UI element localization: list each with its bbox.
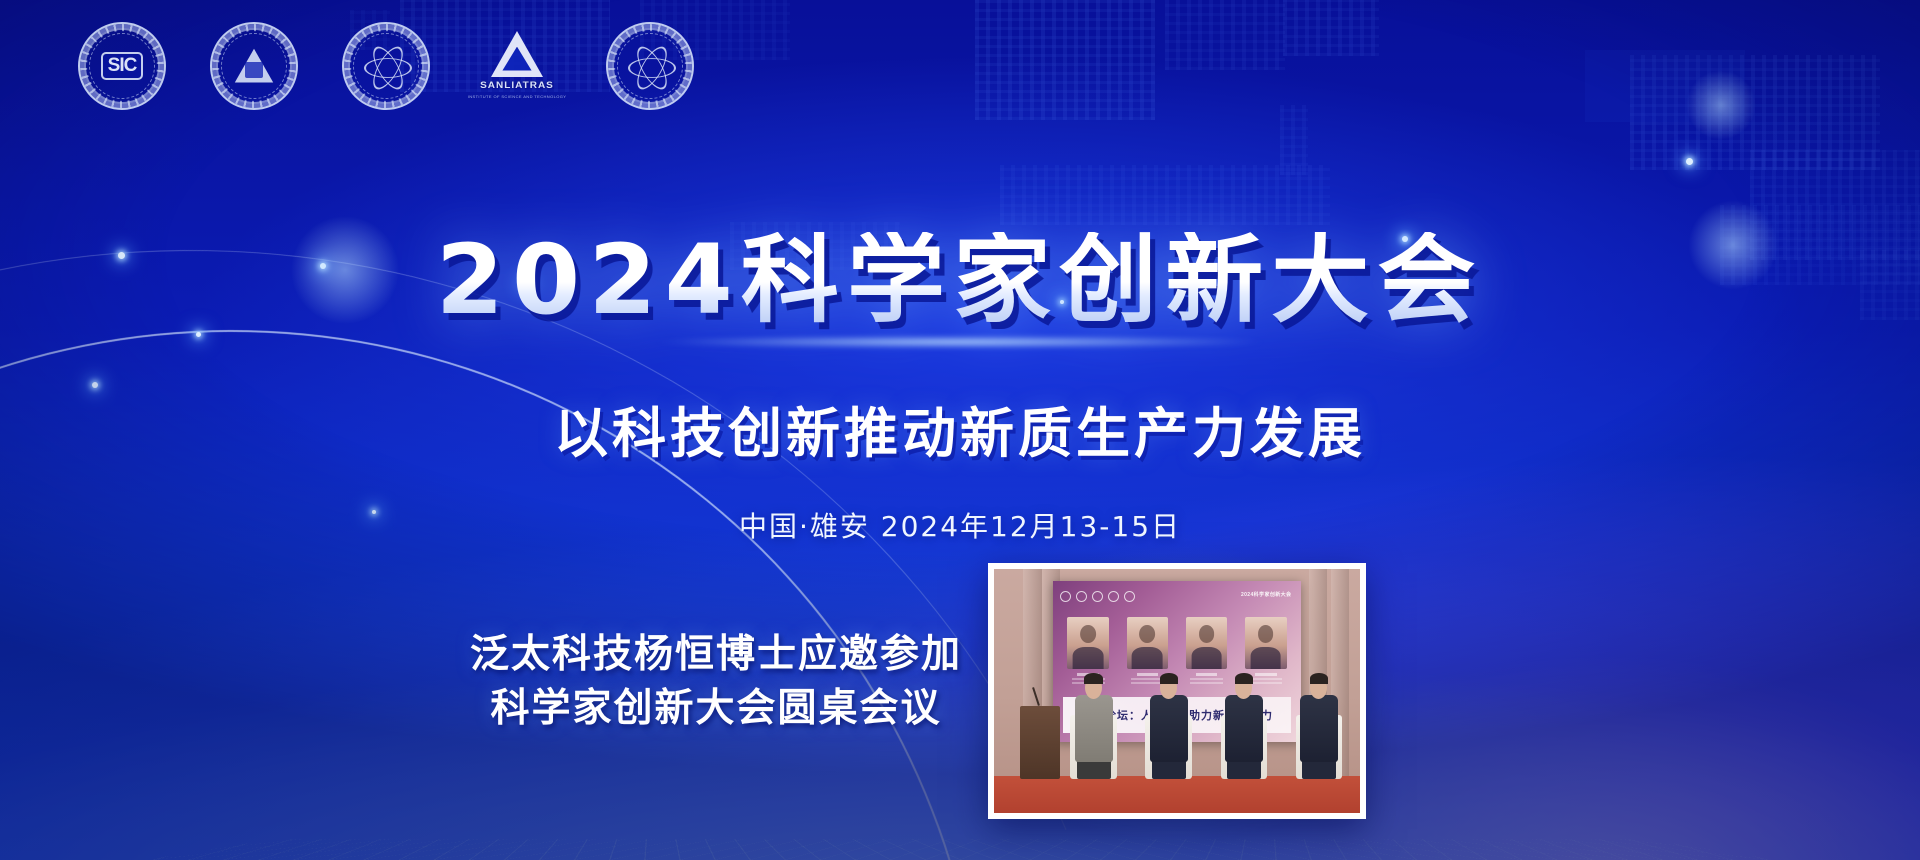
- page-subtitle: 以科技创新推动新质生产力发展: [554, 404, 1366, 463]
- poster-canvas: SIC SANLIATRAS INSTITUTE OF SCIENCE AND …: [0, 0, 1920, 860]
- photo-panelists: [1067, 676, 1345, 778]
- screen-logo-icon: [1060, 591, 1071, 602]
- panelist: [1067, 676, 1120, 778]
- photo-podium: [1020, 706, 1060, 779]
- panelist: [1293, 676, 1346, 778]
- sic-seal-logo: SIC: [78, 22, 164, 108]
- event-photo: 2024科学家创新大会: [994, 569, 1360, 813]
- photo-stage-floor: [994, 776, 1360, 813]
- panelist: [1142, 676, 1195, 778]
- sanliatras-subtext: INSTITUTE OF SCIENCE AND TECHNOLOGY: [468, 94, 567, 99]
- sanliatras-triangle-logo: SANLIATRAS INSTITUTE OF SCIENCE AND TECH…: [474, 22, 560, 108]
- triangle-mark-icon: [491, 31, 543, 77]
- caption-line-1: 泛太科技杨恒博士应邀参加: [456, 628, 976, 682]
- screen-logo-icon: [1092, 591, 1103, 602]
- sanliatras-wordmark: SANLIATRAS: [480, 81, 554, 91]
- event-photo-frame: 2024科学家创新大会: [988, 563, 1366, 819]
- triangle-glyph-icon: [234, 48, 274, 84]
- screen-logo-icon: [1076, 591, 1087, 602]
- screen-logo-icon: [1124, 591, 1135, 602]
- atom-seal-logo: [342, 22, 428, 108]
- location-date-text: 中国·雄安 2024年12月13-15日: [739, 505, 1181, 545]
- panelist: [1217, 676, 1270, 778]
- seal-text-ring: [80, 24, 164, 108]
- title-underglow: [650, 336, 1270, 348]
- caption-line-2: 科学家创新大会圆桌会议: [456, 682, 976, 736]
- page-title: 2024科学家创新大会: [436, 232, 1484, 328]
- screen-header-title: 2024科学家创新大会: [1241, 591, 1292, 598]
- speaker-name-bar: [1196, 673, 1218, 676]
- sponsor-logo-row: SIC SANLIATRAS INSTITUTE OF SCIENCE AND …: [78, 22, 692, 108]
- speaker-photo: [1067, 617, 1109, 669]
- location-date-block: 中国·雄安 2024年12月13-15日: [0, 505, 1920, 545]
- speaker-photo: [1186, 617, 1228, 669]
- atom-glyph-icon: [364, 46, 408, 86]
- speaker-photo: [1245, 617, 1287, 669]
- speaker-name-bar: [1137, 673, 1159, 676]
- subtitle-block: 以科技创新推动新质生产力发展: [0, 404, 1920, 463]
- speaker-name-bar: [1255, 673, 1277, 676]
- speaker-photo: [1127, 617, 1169, 669]
- emblem-glyph-icon: [628, 46, 672, 86]
- speaker-portrait: [1186, 617, 1228, 686]
- circular-seal-logo: [606, 22, 692, 108]
- event-caption: 泛太科技杨恒博士应邀参加 科学家创新大会圆桌会议: [456, 628, 976, 736]
- screen-logo-icon: [1108, 591, 1119, 602]
- main-title-block: 2024科学家创新大会: [0, 232, 1920, 328]
- triangle-seal-logo: [210, 22, 296, 108]
